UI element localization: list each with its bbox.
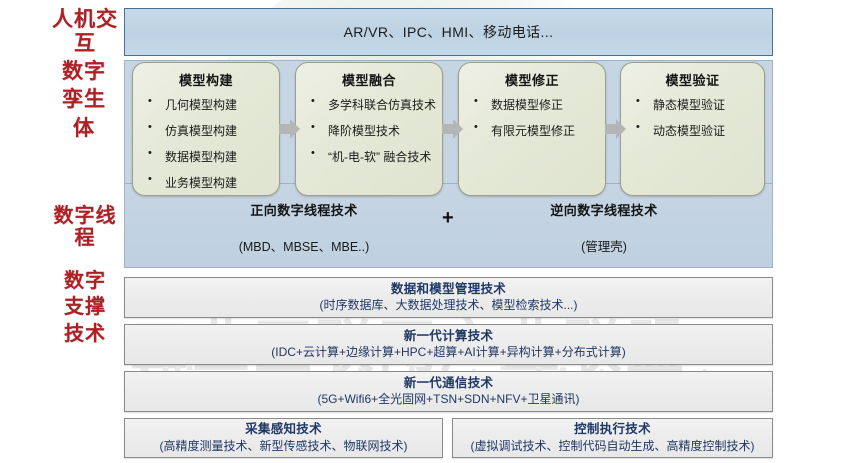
list-item: 仿真模型构建 <box>139 122 273 139</box>
model-box-validation[interactable]: 模型验证 静态模型验证 动态模型验证 <box>620 62 765 196</box>
model-box-fusion[interactable]: 模型融合 多学科联合仿真技术 降阶模型技术 “机-电-软” 融合技术 <box>295 62 443 196</box>
list-item: 多学科联合仿真技术 <box>302 96 436 113</box>
support-row-title: 控制执行技术 <box>574 422 651 438</box>
rail-label-digital-twin: 数字孪生体 <box>58 58 110 143</box>
support-row-subtitle: (虚拟调试技术、控制代码自动生成、高精度控制技术) <box>471 439 755 454</box>
model-box-item-list: 数据模型修正 有限元模型修正 <box>465 96 599 139</box>
reverse-thread-title: 逆向数字线程技术 <box>464 200 744 219</box>
support-row-title: 新一代通信技术 <box>404 376 494 392</box>
model-box-title: 模型构建 <box>139 70 273 89</box>
list-item: 有限元模型修正 <box>465 122 599 139</box>
support-row-title: 新一代计算技术 <box>404 329 494 345</box>
model-box-title: 模型修正 <box>465 70 599 89</box>
support-row-subtitle: (高精度测量技术、新型传感技术、物联网技术) <box>160 439 408 454</box>
banner-text: AR/VR、IPC、HMI、移动电话... <box>344 22 554 42</box>
list-item: 几何模型构建 <box>139 96 273 113</box>
support-row-title: 采集感知技术 <box>245 422 322 438</box>
right-arrow-icon <box>605 118 627 140</box>
rail-label-digital-thread: 数字线程 <box>52 205 118 250</box>
support-row-next-gen-computing[interactable]: 新一代计算技术 (IDC+云计算+边缘计算+HPC+超算+AI计算+异构计算+分… <box>124 324 773 365</box>
right-arrow-icon <box>442 118 464 140</box>
list-item: 数据模型构建 <box>139 148 273 165</box>
layer-label-rail: 人机交互 数字孪生体 数字线程 数字支撑技术 <box>0 0 122 463</box>
human-machine-interaction-banner: AR/VR、IPC、HMI、移动电话... <box>124 8 773 56</box>
rail-label-human-machine-interaction: 人机交互 <box>52 8 118 55</box>
model-box-item-list: 几何模型构建 仿真模型构建 数据模型构建 业务模型构建 <box>139 96 273 191</box>
support-row-next-gen-communication[interactable]: 新一代通信技术 (5G+Wifi6+全光固网+TSN+SDN+NFV+卫星通讯) <box>124 371 773 412</box>
list-item: 动态模型验证 <box>627 122 758 139</box>
support-row-title: 数据和模型管理技术 <box>391 282 506 298</box>
list-item: “机-电-软” 融合技术 <box>302 148 436 165</box>
digital-twin-section: 模型构建 几何模型构建 仿真模型构建 数据模型构建 业务模型构建 模型融合 多学… <box>124 60 773 268</box>
right-arrow-icon <box>279 118 301 140</box>
model-box-correction[interactable]: 模型修正 数据模型修正 有限元模型修正 <box>458 62 606 196</box>
model-box-construction[interactable]: 模型构建 几何模型构建 仿真模型构建 数据模型构建 业务模型构建 <box>132 62 280 196</box>
list-item: 静态模型验证 <box>627 96 758 113</box>
support-row-subtitle: (IDC+云计算+边缘计算+HPC+超算+AI计算+异构计算+分布式计算) <box>271 345 625 360</box>
digital-thread-row: 正向数字线程技术 (MBD、MBSE、MBE..) + 逆向数字线程技术 (管理… <box>124 183 773 268</box>
model-box-item-list: 多学科联合仿真技术 降阶模型技术 “机-电-软” 融合技术 <box>302 96 436 165</box>
support-row-control-execution[interactable]: 控制执行技术 (虚拟调试技术、控制代码自动生成、高精度控制技术) <box>452 418 773 458</box>
forward-digital-thread-block: 正向数字线程技术 (MBD、MBSE、MBE..) <box>164 200 444 255</box>
forward-thread-subtitle: (MBD、MBSE、MBE..) <box>164 236 444 255</box>
support-row-data-model-management[interactable]: 数据和模型管理技术 (时序数据库、大数据处理技术、模型检索技术...) <box>124 277 773 318</box>
support-row-subtitle: (时序数据库、大数据处理技术、模型检索技术...) <box>320 298 578 313</box>
model-box-title: 模型验证 <box>627 70 758 89</box>
list-item: 数据模型修正 <box>465 96 599 113</box>
list-item: 降阶模型技术 <box>302 122 436 139</box>
forward-thread-title: 正向数字线程技术 <box>164 200 444 219</box>
reverse-digital-thread-block: 逆向数字线程技术 (管理壳) <box>464 200 744 255</box>
model-box-title: 模型融合 <box>302 70 436 89</box>
plus-sign: + <box>442 207 454 230</box>
model-box-item-list: 静态模型验证 动态模型验证 <box>627 96 758 139</box>
diagram-root: 工业互联网产业联盟 Alliance of Industrial Interne… <box>0 0 841 463</box>
reverse-thread-subtitle: (管理壳) <box>464 236 744 255</box>
support-row-subtitle: (5G+Wifi6+全光固网+TSN+SDN+NFV+卫星通讯) <box>317 392 579 407</box>
rail-label-digital-support-tech: 数字支撑技术 <box>62 268 108 347</box>
model-process-row: 模型构建 几何模型构建 仿真模型构建 数据模型构建 业务模型构建 模型融合 多学… <box>124 60 773 200</box>
support-row-sensing-acquisition[interactable]: 采集感知技术 (高精度测量技术、新型传感技术、物联网技术) <box>124 418 443 458</box>
